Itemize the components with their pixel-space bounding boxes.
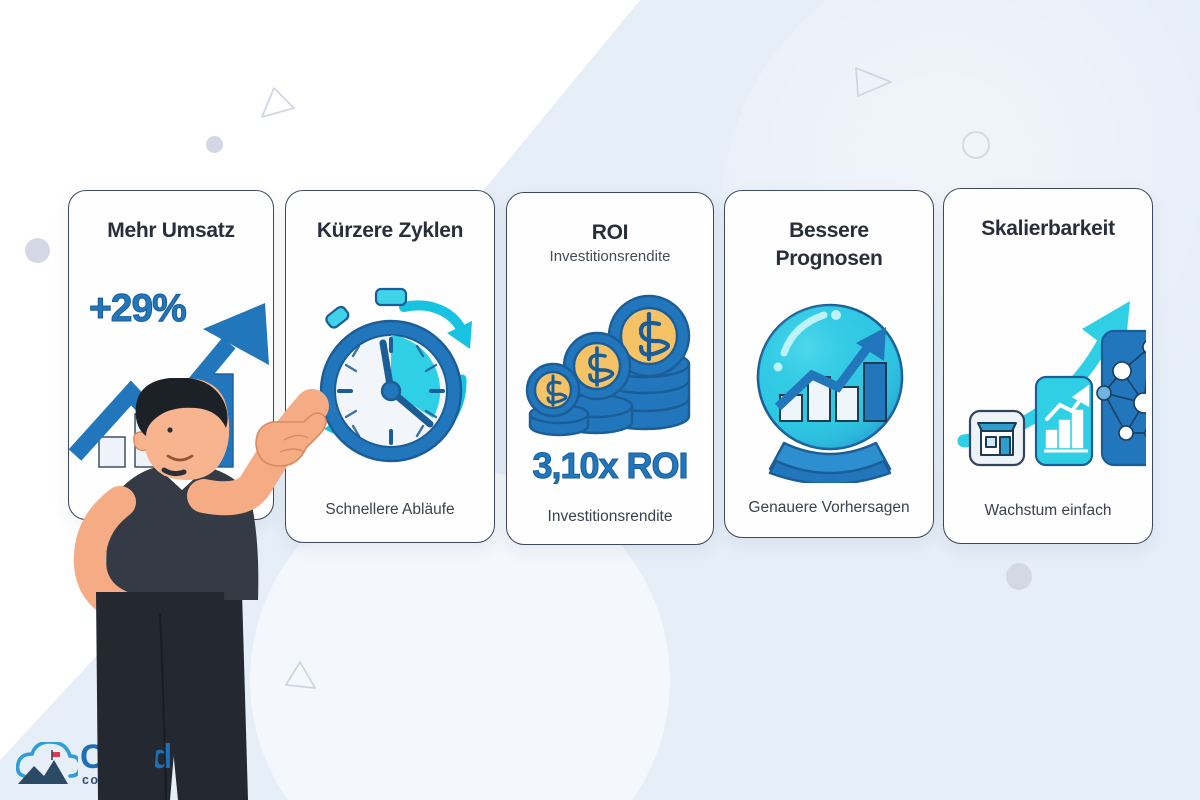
coin-stack-icon	[523, 288, 703, 438]
card-title: Mehr Umsatz	[69, 217, 273, 245]
card-subtitle: Investitionsrendite	[507, 248, 713, 265]
card-caption: Wachstum einfach	[944, 502, 1152, 520]
card-title: Kürzere Zyklen	[286, 217, 494, 245]
benefit-card-skalierbarkeit[interactable]: Skalierbarkeit	[943, 188, 1153, 544]
card-stat-value: +29%	[69, 287, 273, 331]
card-stat-value: 3,10x ROI	[507, 445, 713, 487]
card-caption: Investitionsrendite	[507, 508, 713, 526]
eye	[167, 427, 172, 432]
card-title: Bessere Prognosen	[725, 217, 933, 272]
infographic-canvas: Mehr Umsatz +29% Kürzere Zyklen	[0, 0, 1200, 800]
scaling-growth-icon	[954, 285, 1146, 481]
card-title: Skalierbarkeit	[944, 215, 1152, 243]
crystal-ball-icon	[750, 291, 910, 483]
trousers-overlay	[18, 592, 348, 800]
card-title: ROI	[507, 219, 713, 247]
benefit-card-bessere-prognosen[interactable]: Bessere Prognosen	[724, 190, 934, 538]
card-caption: Genauere Vorhersagen	[725, 499, 933, 517]
benefit-card-roi[interactable]: ROI Investitionsrendite	[506, 192, 714, 545]
